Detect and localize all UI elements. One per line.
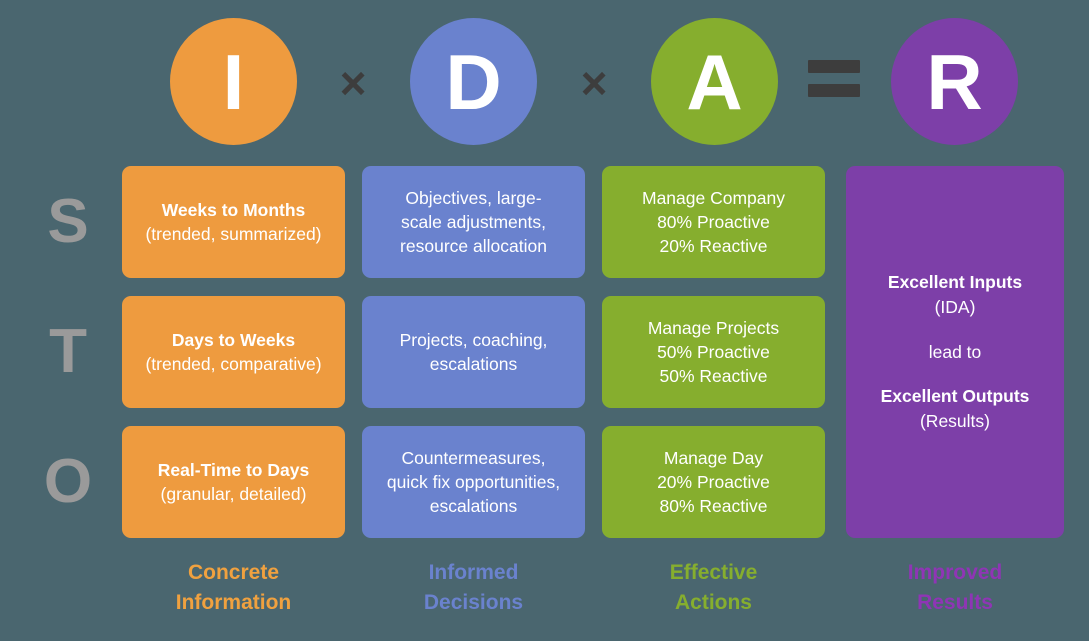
card-line-2: escalations bbox=[430, 352, 518, 376]
card-line-1: Projects, coaching, bbox=[400, 328, 548, 352]
column-decisions: Objectives, large- scale adjustments, re… bbox=[362, 166, 585, 538]
card-information-strategic: Weeks to Months (trended, summarized) bbox=[122, 166, 345, 278]
circle-decisions: D bbox=[410, 18, 537, 145]
results-line-4: Excellent Outputs bbox=[881, 384, 1030, 409]
results-panel: Excellent Inputs (IDA) lead to Excellent… bbox=[846, 166, 1064, 538]
footer-label-decisions: Informed Decisions bbox=[362, 558, 585, 618]
circle-results: R bbox=[891, 18, 1018, 145]
equals-bar-top bbox=[808, 60, 860, 73]
footer-line-1: Concrete bbox=[122, 558, 345, 588]
card-actions-strategic: Manage Company 80% Proactive 20% Reactiv… bbox=[602, 166, 825, 278]
footer-line-2: Actions bbox=[602, 588, 825, 618]
multiply-icon-2: × bbox=[566, 55, 622, 111]
card-line-1: Real-Time to Days bbox=[158, 458, 309, 482]
footer-label-results: Improved Results bbox=[846, 558, 1064, 618]
card-line-1: Countermeasures, bbox=[402, 446, 546, 470]
footer-line-2: Results bbox=[846, 588, 1064, 618]
card-line-1: Objectives, large- bbox=[405, 186, 541, 210]
results-line-3: lead to bbox=[929, 340, 982, 365]
card-line-2: 80% Proactive bbox=[657, 210, 770, 234]
card-line-3: escalations bbox=[430, 494, 518, 518]
card-line-2: (trended, summarized) bbox=[145, 222, 321, 246]
circle-letter: D bbox=[445, 43, 501, 121]
card-line-2: (granular, detailed) bbox=[161, 482, 307, 506]
circle-letter: R bbox=[926, 43, 982, 121]
card-line-3: 20% Reactive bbox=[660, 234, 768, 258]
card-line-3: 80% Reactive bbox=[660, 494, 768, 518]
circle-actions: A bbox=[651, 18, 778, 145]
card-line-2: scale adjustments, bbox=[401, 210, 546, 234]
card-line-2: 50% Proactive bbox=[657, 340, 770, 364]
results-line-2: (IDA) bbox=[935, 295, 976, 320]
column-actions: Manage Company 80% Proactive 20% Reactiv… bbox=[602, 166, 825, 538]
multiply-icon-1: × bbox=[325, 55, 381, 111]
circle-information: I bbox=[170, 18, 297, 145]
footer-label-actions: Effective Actions bbox=[602, 558, 825, 618]
circle-letter: A bbox=[686, 43, 742, 121]
footer-line-2: Decisions bbox=[362, 588, 585, 618]
column-information: Weeks to Months (trended, summarized) Da… bbox=[122, 166, 345, 538]
card-information-tactical: Days to Weeks (trended, comparative) bbox=[122, 296, 345, 408]
card-line-2: (trended, comparative) bbox=[145, 352, 321, 376]
spine-letter-operational: O bbox=[22, 426, 114, 538]
circle-letter: I bbox=[223, 43, 245, 121]
card-line-1: Weeks to Months bbox=[162, 198, 306, 222]
card-line-1: Days to Weeks bbox=[172, 328, 295, 352]
footer-line-1: Improved bbox=[846, 558, 1064, 588]
results-line-5: (Results) bbox=[920, 409, 990, 434]
card-decisions-tactical: Projects, coaching, escalations bbox=[362, 296, 585, 408]
spine-letter-tactical: T bbox=[22, 296, 114, 408]
spine-letter-strategic: S bbox=[22, 166, 114, 278]
card-actions-tactical: Manage Projects 50% Proactive 50% Reacti… bbox=[602, 296, 825, 408]
equals-bar-bottom bbox=[808, 84, 860, 97]
formula-header: I × D × A R bbox=[0, 0, 1089, 160]
card-line-1: Manage Day bbox=[664, 446, 763, 470]
sto-spine: S T O bbox=[22, 166, 114, 538]
footer-line-2: Information bbox=[122, 588, 345, 618]
footer-line-1: Informed bbox=[362, 558, 585, 588]
results-line-1: Excellent Inputs bbox=[888, 270, 1022, 295]
card-decisions-strategic: Objectives, large- scale adjustments, re… bbox=[362, 166, 585, 278]
card-line-2: 20% Proactive bbox=[657, 470, 770, 494]
footer-line-1: Effective bbox=[602, 558, 825, 588]
card-line-1: Manage Projects bbox=[648, 316, 779, 340]
card-line-2: quick fix opportunities, bbox=[387, 470, 560, 494]
card-line-3: resource allocation bbox=[400, 234, 547, 258]
card-information-operational: Real-Time to Days (granular, detailed) bbox=[122, 426, 345, 538]
card-decisions-operational: Countermeasures, quick fix opportunities… bbox=[362, 426, 585, 538]
equals-icon bbox=[808, 60, 862, 104]
card-line-3: 50% Reactive bbox=[660, 364, 768, 388]
card-line-1: Manage Company bbox=[642, 186, 785, 210]
footer-label-information: Concrete Information bbox=[122, 558, 345, 618]
card-actions-operational: Manage Day 20% Proactive 80% Reactive bbox=[602, 426, 825, 538]
